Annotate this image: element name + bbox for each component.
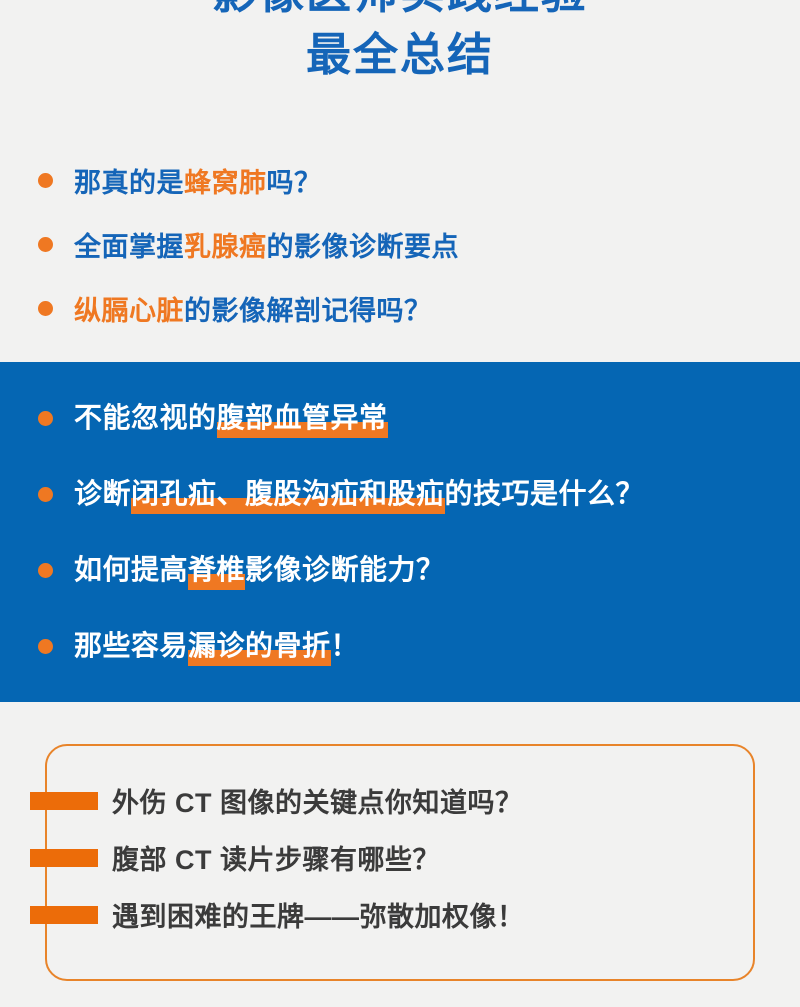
list-item-label: 纵膈心脏的影像解剖记得吗？ — [74, 289, 432, 328]
list-item-label: 遇到困难的王牌——弥散加权像！ — [112, 895, 525, 934]
keyword-marker-highlight: 脊椎 — [188, 556, 245, 584]
list-item-label: 腹部 CT 读片步骤有哪些？ — [112, 838, 440, 877]
page-title: 影像医师实践经验 最全总结 — [0, 0, 800, 86]
keyword-marker-highlight: 腹部血管异常 — [217, 404, 388, 432]
list-item-label: 那真的是蜂窝肺吗？ — [74, 161, 322, 200]
topic-list-gray: 那真的是蜂窝肺吗？ 全面掌握乳腺癌的影像诊断要点 纵膈心脏的影像解剖记得吗？ — [0, 148, 800, 340]
topic-list-boxed: 外伤 CT 图像的关键点你知道吗？ 腹部 CT 读片步骤有哪些？ 遇到困难的王牌… — [0, 744, 800, 943]
keyword-highlight: 纵膈心脏 — [74, 296, 184, 326]
dash-marker-icon — [30, 906, 98, 924]
list-item-label: 诊断闭孔疝、腹股沟疝和股疝的技巧是什么？ — [74, 480, 644, 508]
keyword-marker-highlight: 漏诊的骨折 — [188, 632, 331, 660]
list-item-label: 全面掌握乳腺癌的影像诊断要点 — [74, 225, 459, 264]
list-item-label: 不能忽视的腹部血管异常 — [74, 404, 388, 432]
list-item[interactable]: 诊断闭孔疝、腹股沟疝和股疝的技巧是什么？ — [0, 456, 800, 532]
bullet-dot-icon — [38, 411, 53, 426]
topic-list-blue-band: 不能忽视的腹部血管异常 诊断闭孔疝、腹股沟疝和股疝的技巧是什么？ 如何提高脊椎影… — [0, 362, 800, 702]
keyword-highlight: 乳腺癌 — [184, 232, 267, 262]
bullet-dot-icon — [38, 173, 53, 188]
keyword-marker-highlight: 闭孔疝、腹股沟疝和股疝 — [131, 480, 445, 508]
bullet-dot-icon — [38, 487, 53, 502]
list-item[interactable]: 外伤 CT 图像的关键点你知道吗？ — [0, 772, 800, 829]
list-item[interactable]: 那真的是蜂窝肺吗？ — [0, 148, 800, 212]
list-item[interactable]: 遇到困难的王牌——弥散加权像！ — [0, 886, 800, 943]
bullet-dot-icon — [38, 237, 53, 252]
list-item[interactable]: 纵膈心脏的影像解剖记得吗？ — [0, 276, 800, 340]
list-item[interactable]: 那些容易漏诊的骨折！ — [0, 608, 800, 684]
dash-marker-icon — [30, 849, 98, 867]
list-item[interactable]: 如何提高脊椎影像诊断能力？ — [0, 532, 800, 608]
list-item[interactable]: 腹部 CT 读片步骤有哪些？ — [0, 829, 800, 886]
dash-marker-icon — [30, 792, 98, 810]
keyword-highlight: 蜂窝肺 — [184, 168, 267, 198]
list-item-label: 外伤 CT 图像的关键点你知道吗？ — [112, 781, 523, 820]
bullet-dot-icon — [38, 639, 53, 654]
list-item[interactable]: 不能忽视的腹部血管异常 — [0, 380, 800, 456]
list-item-label: 如何提高脊椎影像诊断能力？ — [74, 556, 445, 584]
title-line-1: 影像医师实践经验 — [0, 0, 800, 24]
title-line-2: 最全总结 — [0, 24, 800, 86]
bullet-dot-icon — [38, 563, 53, 578]
bullet-dot-icon — [38, 301, 53, 316]
list-item[interactable]: 全面掌握乳腺癌的影像诊断要点 — [0, 212, 800, 276]
list-item-label: 那些容易漏诊的骨折！ — [74, 632, 359, 660]
